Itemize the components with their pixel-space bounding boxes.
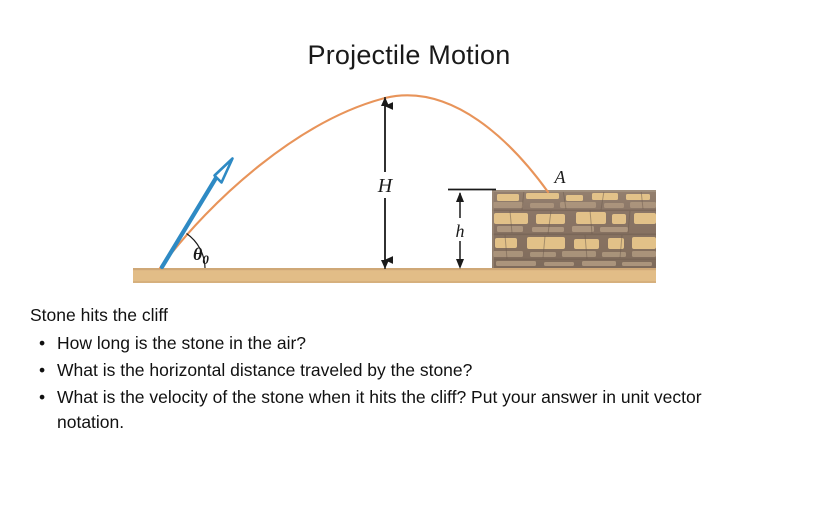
bullet-marker: • — [39, 385, 45, 410]
launch-angle-label: θ0 — [193, 244, 209, 267]
cliff-rock — [492, 190, 656, 268]
projectile-motion-figure: H h A θ0 — [0, 80, 818, 295]
list-item-label: What is the horizontal distance traveled… — [57, 360, 472, 380]
trajectory-curve — [160, 95, 548, 268]
question-list: • How long is the stone in the air? • Wh… — [30, 331, 770, 435]
impact-point-label: A — [554, 167, 567, 187]
list-item-label: How long is the stone in the air? — [57, 333, 306, 353]
question-block: Stone hits the cliff • How long is the s… — [30, 303, 770, 437]
list-item: • What is the horizontal distance travel… — [30, 358, 770, 383]
bullet-marker: • — [39, 358, 45, 383]
bullet-marker: • — [39, 331, 45, 356]
list-item: • How long is the stone in the air? — [30, 331, 770, 356]
slide-canvas: Projectile Motion — [0, 0, 818, 514]
lead-text: Stone hits the cliff — [30, 303, 770, 328]
max-height-label: H — [377, 175, 394, 197]
list-item: • What is the velocity of the stone when… — [30, 385, 770, 435]
page-title: Projectile Motion — [0, 40, 818, 71]
cliff-height-label: h — [456, 221, 465, 241]
list-item-label: What is the velocity of the stone when i… — [57, 387, 702, 432]
ground-strip — [133, 268, 656, 283]
